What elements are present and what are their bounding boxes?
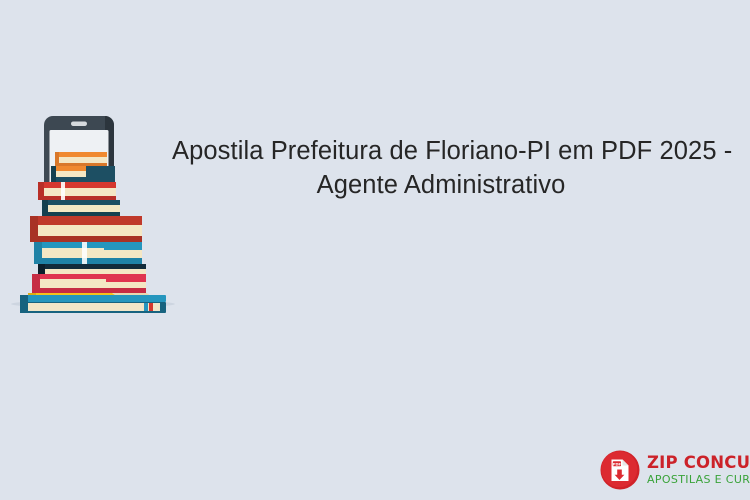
book-darknavy-thin [38, 264, 146, 274]
brand-logo-text: ZIP CONCURSOS APOSTILAS E CURSOS [647, 455, 750, 486]
book-orange-top [55, 152, 107, 166]
book-base-teal [20, 295, 166, 313]
books-illustration-svg [8, 112, 178, 317]
brand-logo[interactable]: PDF ZIP CONCURSOS APOSTILAS E CURSOS [600, 450, 750, 490]
book-pinkred [32, 274, 146, 293]
book-navy-upper [51, 166, 115, 182]
book-navy-mid [42, 200, 120, 216]
page-title: Apostila Prefeitura de Floriano-PI em PD… [172, 134, 710, 202]
book-teal-mid [34, 242, 142, 264]
book-crimson-large [30, 216, 142, 242]
svg-text:PDF: PDF [613, 462, 622, 466]
page-canvas: Apostila Prefeitura de Floriano-PI em PD… [0, 0, 750, 500]
stack-of-books-illustration [8, 112, 178, 317]
book-red-upper [38, 182, 116, 200]
page-title-line-1: Apostila Prefeitura de Floriano-PI em PD… [172, 134, 710, 168]
pdf-download-icon: PDF [600, 450, 640, 490]
page-title-line-2: Agente Administrativo [172, 168, 710, 202]
brand-tagline: APOSTILAS E CURSOS [647, 474, 750, 485]
brand-name: ZIP CONCURSOS [647, 455, 750, 472]
